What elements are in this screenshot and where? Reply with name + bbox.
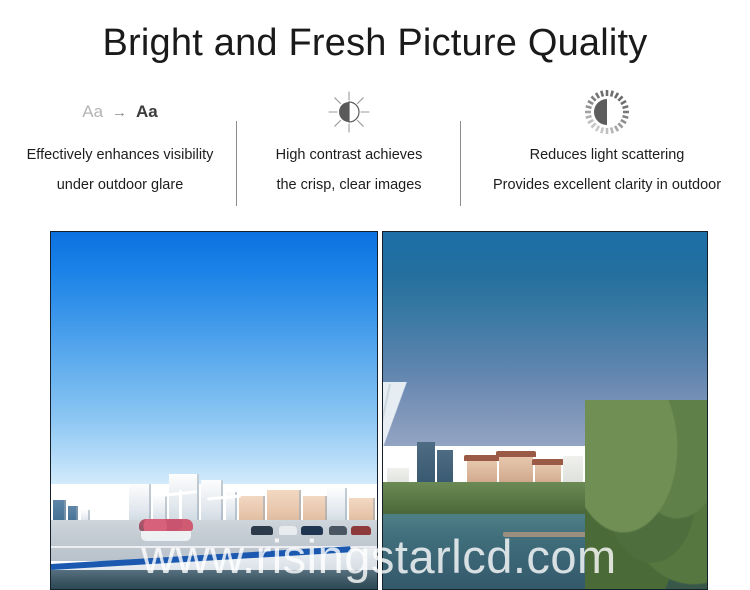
aa-bright-glyph: Aa — [136, 102, 158, 122]
feature-divider-1 — [236, 121, 237, 206]
feature-text-line-1: Reduces light scattering — [464, 140, 750, 170]
comparison-photo: www.risingstarlcd.com — [50, 231, 708, 590]
feature-icon-wrap-3 — [464, 88, 750, 136]
feature-item-scattering: Reduces light scattering Provides excell… — [464, 88, 750, 213]
feature-text-line-2: Provides excellent clarity in outdoor — [464, 170, 750, 200]
arrow-right-icon: → — [112, 104, 127, 121]
feature-text-line-1: Effectively enhances visibility — [6, 140, 234, 170]
scene-bridge-vivid — [51, 232, 377, 589]
photo-half-vivid — [50, 231, 378, 590]
water-left — [51, 570, 377, 589]
photo-half-standard — [382, 231, 708, 590]
contrast-dial-icon — [582, 88, 632, 136]
flower-bed — [139, 519, 193, 531]
sky-gradient-vivid — [51, 232, 377, 484]
feature-icon-wrap-1: Aa → Aa — [6, 88, 234, 136]
feature-row: Aa → Aa Effectively enhances visibility … — [0, 88, 750, 213]
feature-text-line-2: the crisp, clear images — [240, 170, 458, 200]
feature-item-visibility: Aa → Aa Effectively enhances visibility … — [6, 88, 234, 213]
page-title: Bright and Fresh Picture Quality — [0, 22, 750, 65]
text-contrast-aa-icon: Aa → Aa — [82, 102, 158, 122]
feature-divider-2 — [460, 121, 461, 206]
scene-lake-standard — [383, 232, 707, 589]
foreground-trees-right — [585, 400, 707, 589]
feature-item-contrast: High contrast achieves the crisp, clear … — [240, 88, 458, 213]
feature-text-line-1: High contrast achieves — [240, 140, 458, 170]
feature-text-line-2: under outdoor glare — [6, 170, 234, 200]
aa-dim-glyph: Aa — [82, 102, 103, 122]
brightness-sun-icon — [323, 88, 375, 136]
feature-icon-wrap-2 — [240, 88, 458, 136]
jetty-right — [503, 532, 589, 537]
